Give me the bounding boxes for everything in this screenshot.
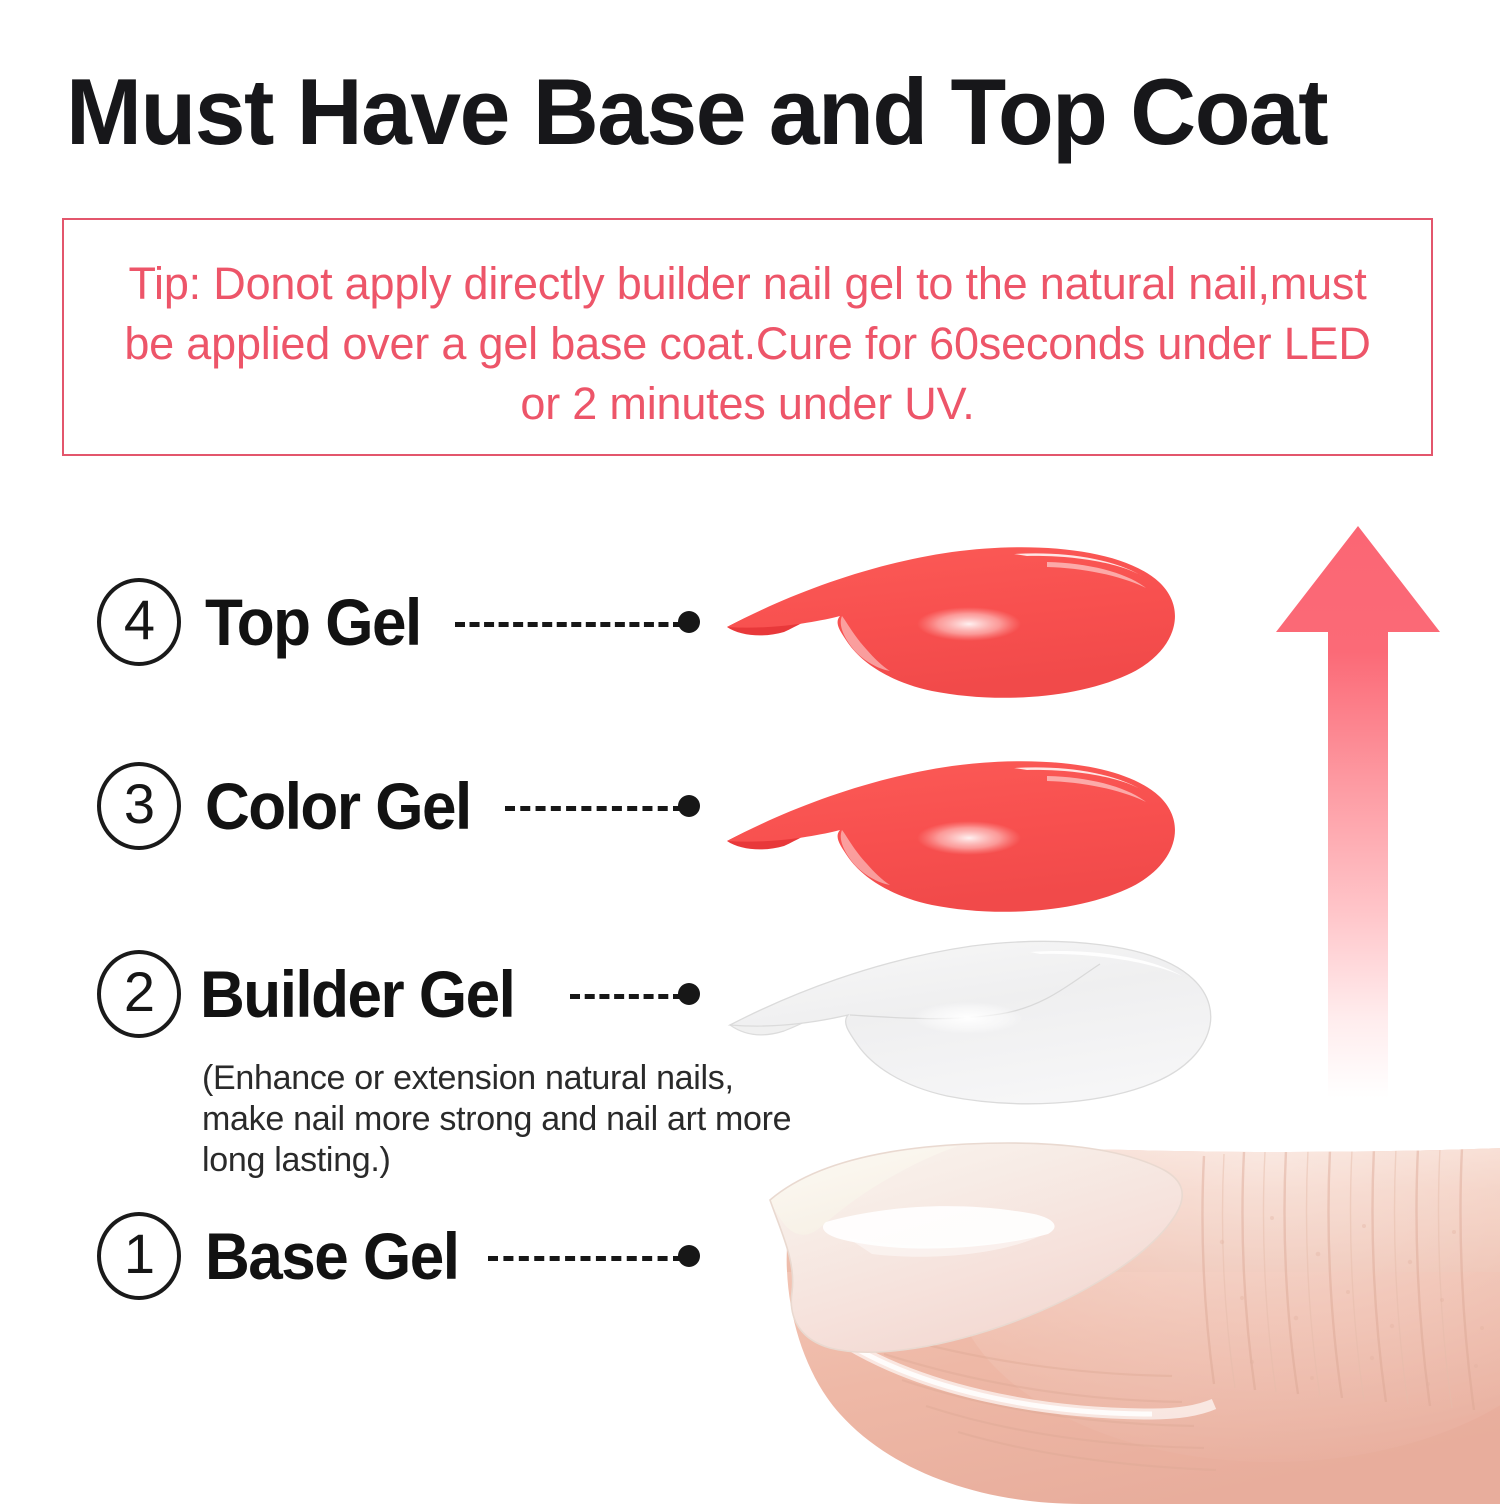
red-gel-drop-icon-color-gel	[722, 734, 1212, 934]
step-label-builder-gel: Builder Gel	[200, 954, 514, 1034]
step-number-2: 2	[124, 964, 154, 1020]
tip-text: Tip: Donot apply directly builder nail g…	[110, 254, 1385, 434]
step-number-badge-3: 3	[97, 762, 181, 850]
step-number-badge-1: 1	[97, 1212, 181, 1300]
step-number-badge-2: 2	[97, 950, 181, 1038]
leader-line-builder-gel	[570, 994, 683, 999]
step-label-top-gel: Top Gel	[205, 582, 421, 662]
leader-dot-builder-gel	[678, 983, 700, 1005]
leader-dot-top-gel	[678, 611, 700, 633]
gel-drop-center-gloss	[917, 821, 1021, 855]
leader-dot-base-gel	[678, 1245, 700, 1267]
step-number-1: 1	[124, 1226, 154, 1282]
up-arrow-icon	[1272, 520, 1444, 1100]
leader-line-base-gel	[488, 1256, 683, 1261]
step-number-3: 3	[124, 776, 154, 832]
arrow-shape	[1276, 526, 1440, 1098]
step-number-4: 4	[124, 592, 154, 648]
red-gel-drop-icon-top-gel	[722, 520, 1212, 720]
gel-drop-center-gloss	[917, 607, 1021, 641]
fingertip-nail-photo	[752, 1122, 1500, 1504]
tip-box: Tip: Donot apply directly builder nail g…	[62, 218, 1433, 456]
leader-line-color-gel	[505, 806, 683, 811]
page-title: Must Have Base and Top Coat	[66, 62, 1405, 162]
step-label-color-gel: Color Gel	[205, 766, 471, 846]
clear-gel-drop-icon-builder-gel	[700, 922, 1260, 1112]
clear-gel-gloss	[913, 1002, 1023, 1034]
step-label-base-gel: Base Gel	[205, 1216, 459, 1296]
step-number-badge-4: 4	[97, 578, 181, 666]
leader-dot-color-gel	[678, 795, 700, 817]
leader-line-top-gel	[455, 622, 683, 627]
